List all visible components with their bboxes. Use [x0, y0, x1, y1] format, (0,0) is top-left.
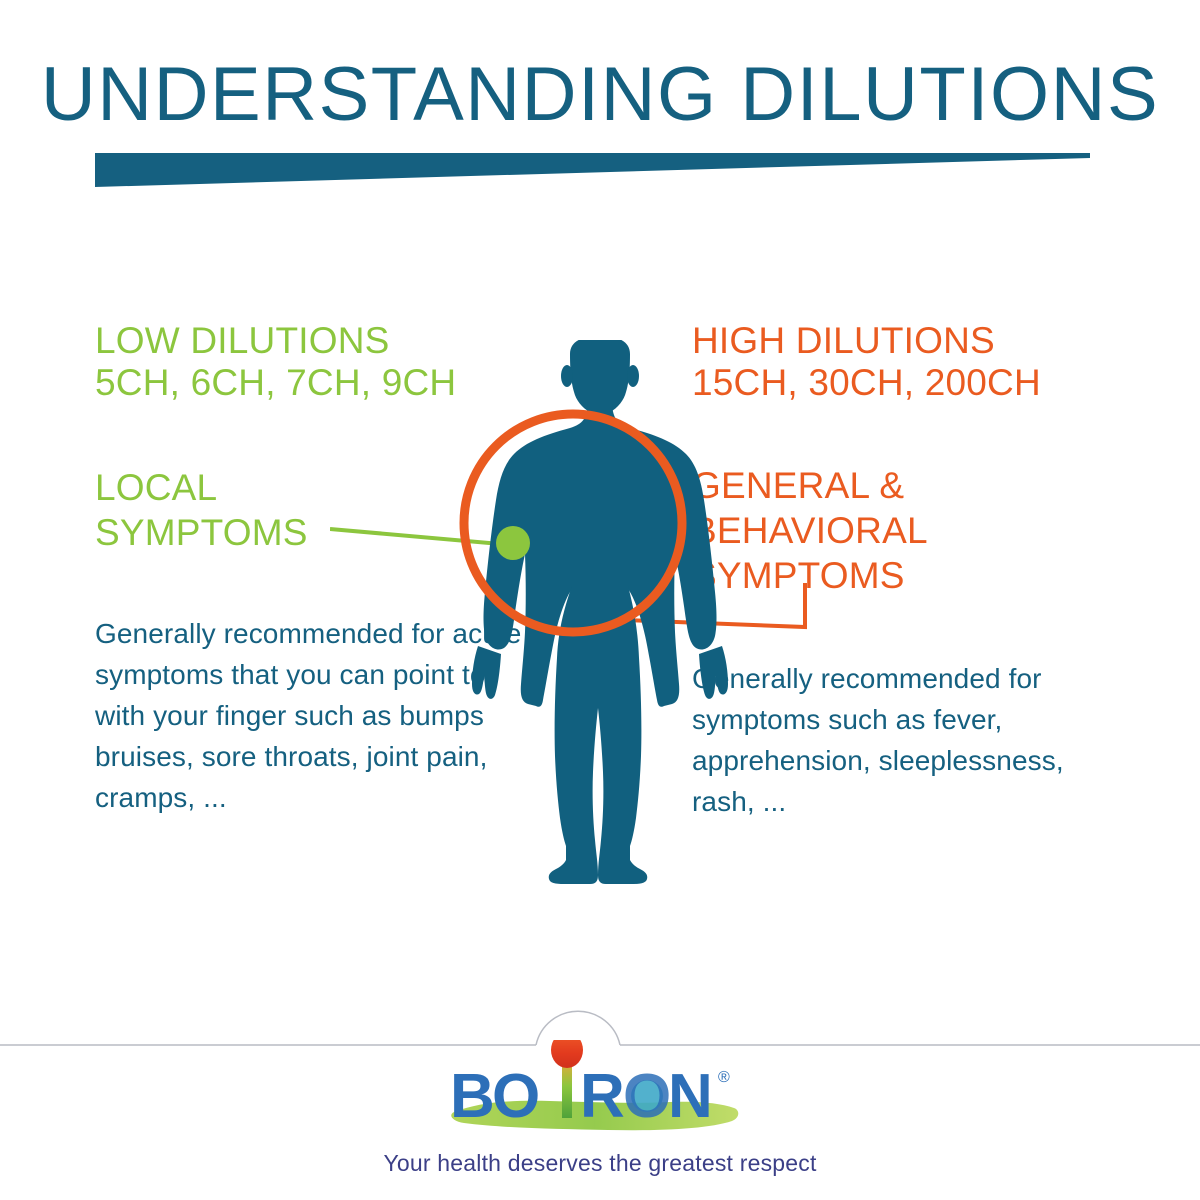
logo-poppy-flower [551, 1040, 583, 1068]
page-title: UNDERSTANDING DILUTIONS [0, 52, 1200, 138]
low-dilutions-heading: LOW DILUTIONS 5CH, 6CH, 7CH, 9CH [95, 320, 456, 404]
boiron-logo: B O R N O ® [440, 1040, 760, 1145]
svg-text:R: R [580, 1062, 627, 1131]
local-symptoms-label-line1: LOCAL [95, 465, 435, 510]
body-illustration [420, 340, 780, 890]
logo-letter-o2: O [623, 1062, 671, 1131]
logo-wordmark: B O R N [450, 1062, 715, 1131]
low-dilutions-heading-line1: LOW DILUTIONS [95, 320, 456, 362]
svg-text:O: O [492, 1062, 542, 1131]
low-dilutions-heading-line2: 5CH, 6CH, 7CH, 9CH [95, 362, 456, 404]
logo-flower-stem [562, 1060, 572, 1118]
title-divider [95, 153, 1090, 187]
brand-tagline: Your health deserves the greatest respec… [0, 1148, 1200, 1178]
local-symptom-marker-dot [496, 526, 530, 560]
svg-text:N: N [668, 1062, 715, 1131]
svg-text:B: B [450, 1062, 497, 1131]
infographic-page: UNDERSTANDING DILUTIONS LOW DILUTIONS 5C… [0, 0, 1200, 1200]
logo-registered-mark: ® [718, 1069, 730, 1086]
